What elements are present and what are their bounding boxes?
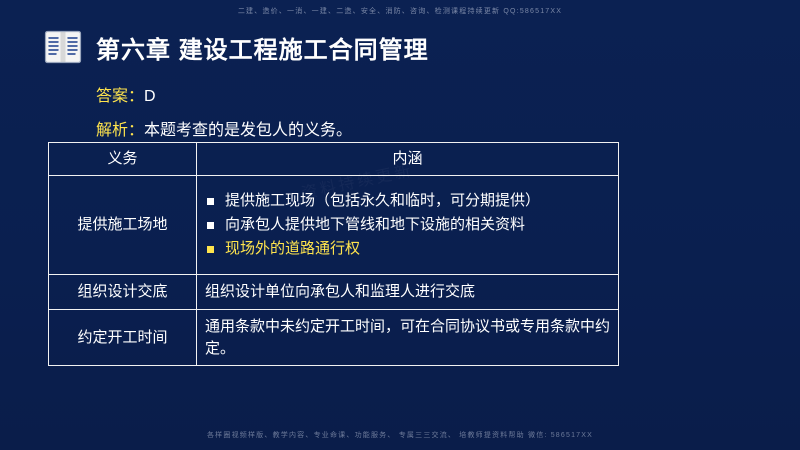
book-icon: [44, 28, 82, 66]
list-item: 向承包人提供地下管线和地下设施的相关资料: [205, 214, 610, 236]
slide: 二建、造价、一消、一建、二造、安全、消防、咨询、检测课程持续更新 QQ:5865…: [0, 0, 800, 450]
answer-row: 答案： D: [96, 82, 156, 106]
duty-cell: 组织设计交底: [49, 275, 197, 310]
table-header-duty: 义务: [49, 143, 197, 176]
watermark-bottom: 各样圈视频样版、教学内容、专业命课、功能服务、 专属三三交流、 培教师提资料帮助…: [0, 430, 800, 440]
table-header-content: 内涵: [197, 143, 619, 176]
answer-value: D: [144, 88, 156, 106]
analysis-label: 解析：: [96, 116, 144, 140]
bullet-list: 提供施工现场（包括永久和临时，可分期提供） 向承包人提供地下管线和地下设施的相关…: [205, 190, 610, 259]
content-cell: 通用条款中未约定开工时间，可在合同协议书或专用条款中约定。: [197, 309, 619, 366]
list-item: 提供施工现场（包括永久和临时，可分期提供）: [205, 190, 610, 212]
analysis-row: 解析： 本题考查的是发包人的义务。: [96, 116, 352, 140]
list-item: 现场外的道路通行权: [205, 238, 610, 260]
duty-cell: 提供施工场地: [49, 176, 197, 275]
content-cell: 组织设计单位向承包人和监理人进行交底: [197, 275, 619, 310]
content-cell: 提供施工现场（包括永久和临时，可分期提供） 向承包人提供地下管线和地下设施的相关…: [197, 176, 619, 275]
watermark-top: 二建、造价、一消、一建、二造、安全、消防、咨询、检测课程持续更新 QQ:5865…: [0, 6, 800, 16]
table-header-row: 义务 内涵: [49, 143, 619, 176]
page-title: 第六章 建设工程施工合同管理: [96, 30, 429, 65]
duty-cell: 约定开工时间: [49, 309, 197, 366]
obligations-table-wrapper: 义务 内涵 提供施工场地 提供施工现场（包括永久和临时，可分期提供） 向承包人提…: [48, 142, 618, 366]
obligations-table: 义务 内涵 提供施工场地 提供施工现场（包括永久和临时，可分期提供） 向承包人提…: [48, 142, 619, 366]
answer-label: 答案：: [96, 82, 144, 106]
table-row: 组织设计交底 组织设计单位向承包人和监理人进行交底: [49, 275, 619, 310]
analysis-value: 本题考查的是发包人的义务。: [144, 116, 352, 140]
table-row: 提供施工场地 提供施工现场（包括永久和临时，可分期提供） 向承包人提供地下管线和…: [49, 176, 619, 275]
slide-header: 第六章 建设工程施工合同管理: [44, 28, 429, 66]
table-row: 约定开工时间 通用条款中未约定开工时间，可在合同协议书或专用条款中约定。: [49, 309, 619, 366]
